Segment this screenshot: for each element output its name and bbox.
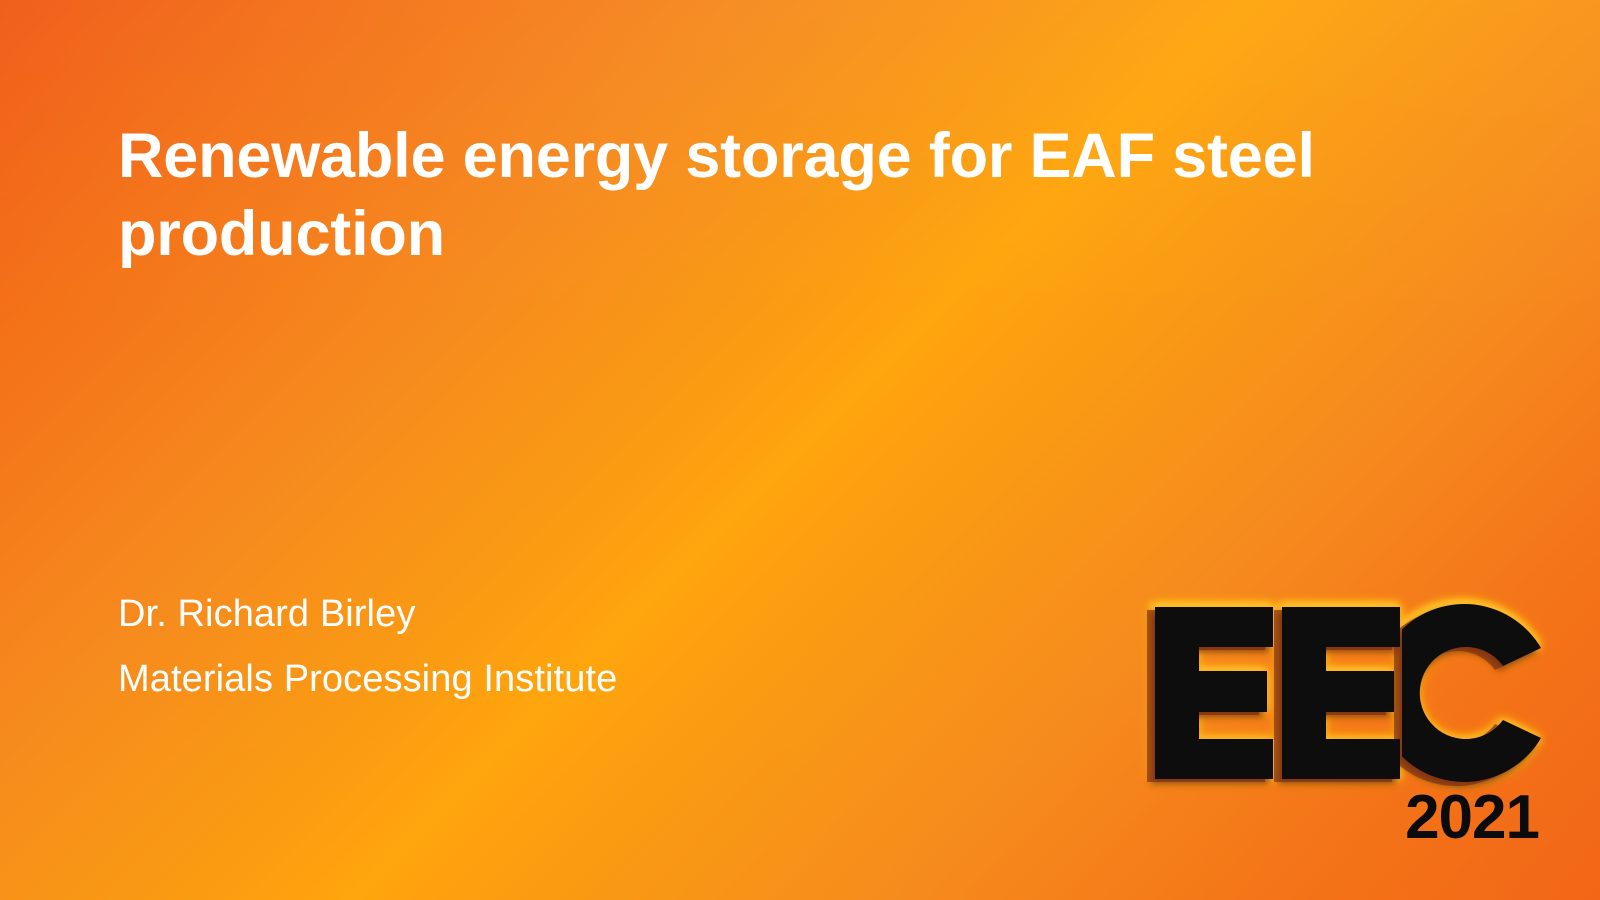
eec-logo-icon: 2021 (1125, 588, 1545, 843)
logo-year: 2021 (1405, 783, 1539, 852)
title-slide: Renewable energy storage for EAF steel p… (0, 0, 1600, 900)
page-title: Renewable energy storage for EAF steel p… (118, 118, 1338, 274)
eec-2021-logo: 2021 (1125, 588, 1545, 843)
byline-block: Dr. Richard Birley Materials Processing … (118, 582, 617, 713)
title-block: Renewable energy storage for EAF steel p… (118, 118, 1338, 274)
presenter-affiliation: Materials Processing Institute (118, 647, 617, 712)
presenter-name: Dr. Richard Birley (118, 582, 617, 647)
